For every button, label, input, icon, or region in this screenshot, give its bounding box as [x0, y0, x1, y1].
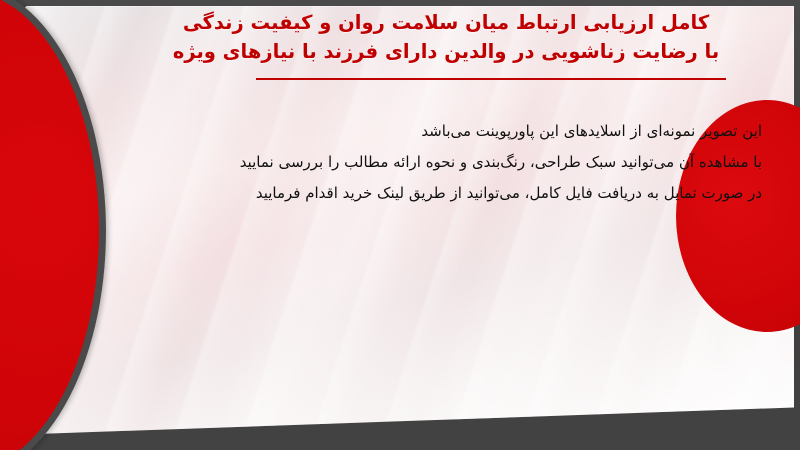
title-underline-rule	[256, 78, 726, 80]
slide-title: کامل ارزیابی ارتباط میان سلامت روان و کی…	[126, 8, 766, 66]
body-line-2: با مشاهده آن می‌توانید سبک طراحی، رنگ‌بن…	[142, 147, 762, 178]
body-line-3: در صورت تمایل به دریافت فایل کامل، می‌تو…	[142, 178, 762, 209]
presentation-slide: کامل ارزیابی ارتباط میان سلامت روان و کی…	[0, 0, 800, 450]
slide-body-text: این تصویر نمونه‌ای از اسلایدهای این پاور…	[142, 116, 762, 209]
title-line-1: کامل ارزیابی ارتباط میان سلامت روان و کی…	[126, 8, 766, 37]
body-line-1: این تصویر نمونه‌ای از اسلایدهای این پاور…	[142, 116, 762, 147]
title-line-2: با رضایت زناشویی در والدین دارای فرزند ب…	[126, 37, 766, 66]
